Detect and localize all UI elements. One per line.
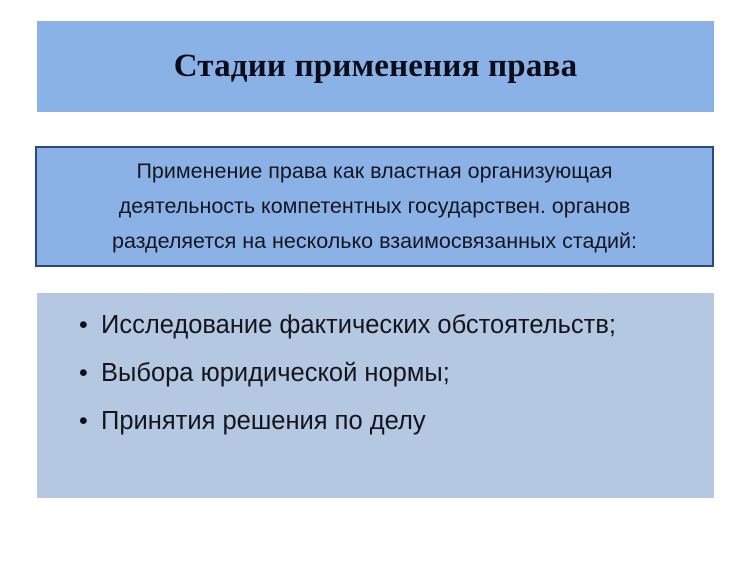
list-item-label: Принятия решения по делу — [101, 401, 426, 441]
list-item: • Принятия решения по делу — [37, 401, 714, 449]
list-item-label: Исследование фактических обстоятельств; — [101, 305, 616, 345]
slide-canvas: Стадии применения права Применение права… — [0, 0, 750, 561]
title-banner: Стадии применения права — [37, 21, 714, 112]
statement-box: Применение права как властная организующ… — [35, 146, 714, 267]
statement-text: Применение права как властная организующ… — [106, 154, 643, 259]
page-title: Стадии применения права — [174, 48, 578, 84]
bullet-point-icon: • — [79, 305, 101, 345]
list-item-label: Выбора юридической нормы; — [101, 353, 450, 393]
bullet-list-box: • Исследование фактических обстоятельств… — [37, 293, 714, 498]
list-item: • Исследование фактических обстоятельств… — [37, 305, 714, 353]
bullet-point-icon: • — [79, 353, 101, 393]
list-item: • Выбора юридической нормы; — [37, 353, 714, 401]
bullet-point-icon: • — [79, 401, 101, 441]
